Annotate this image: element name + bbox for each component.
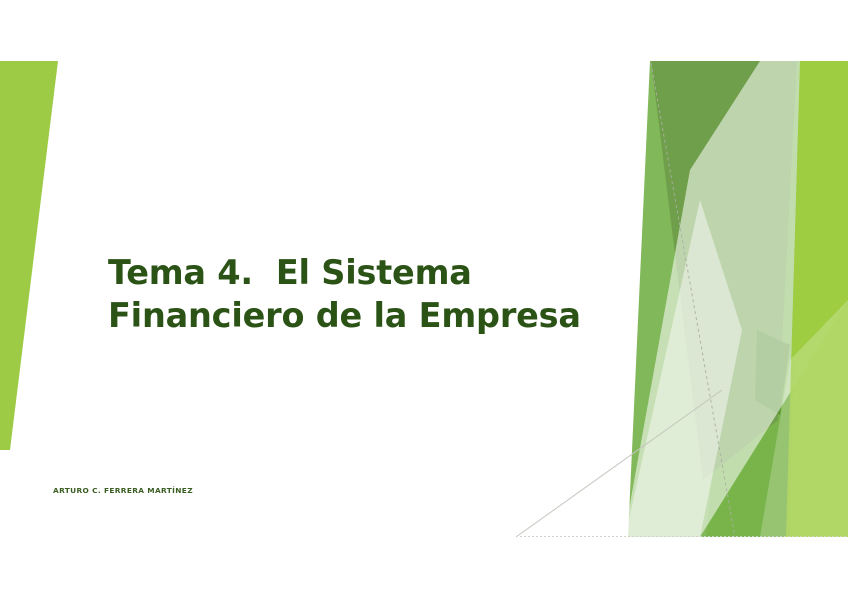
slide-canvas: Tema 4. El Sistema Financiero de la Empr… — [0, 0, 848, 599]
shape-mid-green — [628, 61, 800, 537]
shape-dark-triangle — [651, 61, 797, 480]
shape-bright-right — [706, 61, 848, 537]
author-name: ARTURO C. FERRERA MARTÍNEZ — [53, 486, 373, 495]
shape-bright-sliver — [786, 61, 848, 537]
shape-pale-wedge — [624, 61, 848, 537]
hairline-diagonal-long — [516, 390, 722, 537]
shape-left-wedge — [0, 61, 58, 450]
title-block: Tema 4. El Sistema Financiero de la Empr… — [108, 252, 638, 337]
presentation-slide: Tema 4. El Sistema Financiero de la Empr… — [0, 0, 848, 599]
shape-deep-accent — [755, 330, 790, 415]
shape-faint-wedge — [625, 200, 742, 537]
hairline-dashed-apex — [651, 63, 735, 537]
page-title: Tema 4. El Sistema Financiero de la Empr… — [108, 252, 638, 337]
shape-highlight-lower — [760, 300, 848, 537]
author-block: ARTURO C. FERRERA MARTÍNEZ — [53, 486, 373, 495]
